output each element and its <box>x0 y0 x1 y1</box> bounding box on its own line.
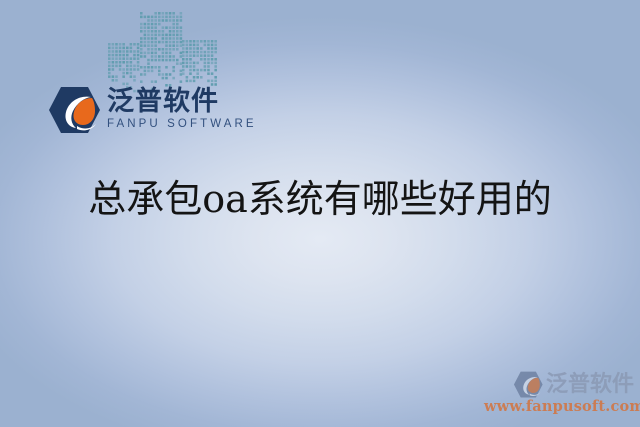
watermark-logo-row: 泛普软件 <box>484 371 634 398</box>
pixel-cityscape-decoration <box>104 6 222 96</box>
fanpu-hexagon-logo-icon <box>47 86 101 134</box>
brand-logo: 泛普软件 FANPU SOFTWARE <box>47 86 257 134</box>
brand-name-en: FANPU SOFTWARE <box>107 117 257 131</box>
brand-name-cn: 泛普软件 <box>107 87 257 116</box>
watermark-name-cn: 泛普软件 <box>546 373 634 397</box>
image-canvas: 泛普软件 FANPU SOFTWARE 总承包oa系统有哪些好用的 泛普软件 w… <box>0 0 640 427</box>
watermark-url: www.fanpusoft.com <box>484 398 630 415</box>
site-watermark: 泛普软件 www.fanpusoft.com <box>484 371 634 415</box>
page-headline: 总承包oa系统有哪些好用的 <box>0 174 640 224</box>
brand-wordmark: 泛普软件 FANPU SOFTWARE <box>107 86 257 131</box>
watermark-hexagon-logo-icon <box>512 371 544 398</box>
